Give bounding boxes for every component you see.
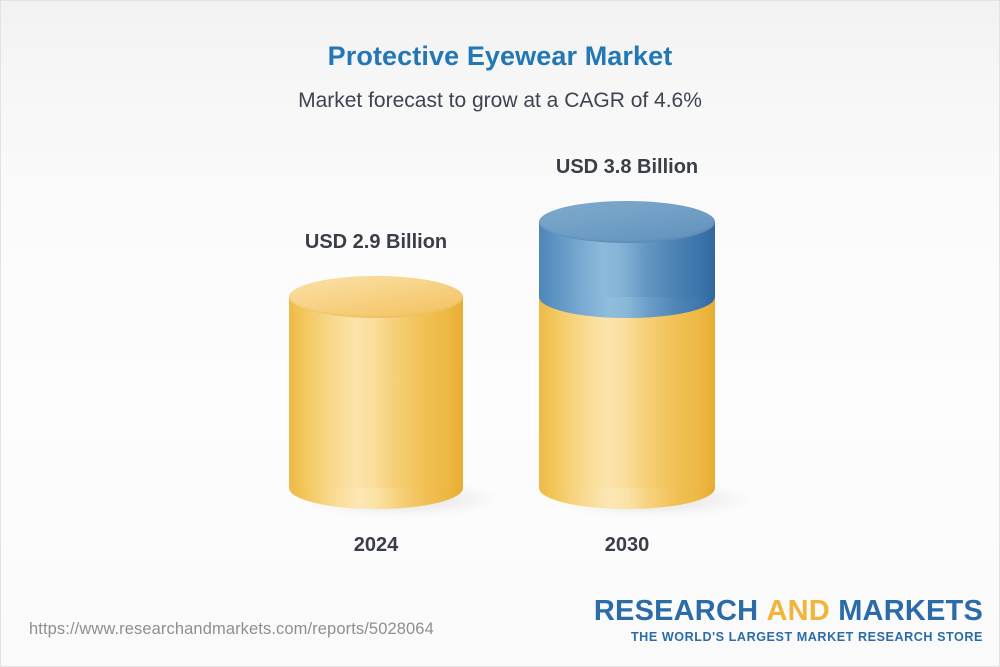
- cylinder-body: [289, 297, 463, 488]
- brand-tagline: THE WORLD'S LARGEST MARKET RESEARCH STOR…: [594, 630, 983, 644]
- cylinder-body: [539, 297, 715, 488]
- cylinder-2024: [289, 276, 463, 509]
- bar-value-label-2024: USD 2.9 Billion: [289, 231, 463, 254]
- cylinder-top-cap: [539, 201, 715, 243]
- bar-value-label-2030: USD 3.8 Billion: [539, 156, 715, 179]
- bar-category-label-2024: 2024: [289, 534, 463, 557]
- brand-word-research: RESEARCH: [594, 595, 758, 627]
- brand-word-and: AND: [767, 595, 830, 627]
- source-url[interactable]: https://www.researchandmarkets.com/repor…: [29, 620, 434, 639]
- cylinder-2030: [539, 201, 715, 509]
- cylinder-segment-growth: [539, 201, 715, 318]
- brand-word-markets: MARKETS: [838, 595, 983, 627]
- brand-wordmark: RESEARCH AND MARKETS: [594, 596, 983, 626]
- plot-area: USD 2.9 Billion 2024 USD 3.8 Billion: [1, 1, 1000, 667]
- brand-logo: RESEARCH AND MARKETS THE WORLD'S LARGEST…: [594, 596, 983, 644]
- cylinder-top-cap: [289, 276, 463, 318]
- chart-canvas: Protective Eyewear Market Market forecas…: [0, 0, 1000, 667]
- cylinder-segment-base: [289, 276, 463, 509]
- bar-category-label-2030: 2030: [539, 534, 715, 557]
